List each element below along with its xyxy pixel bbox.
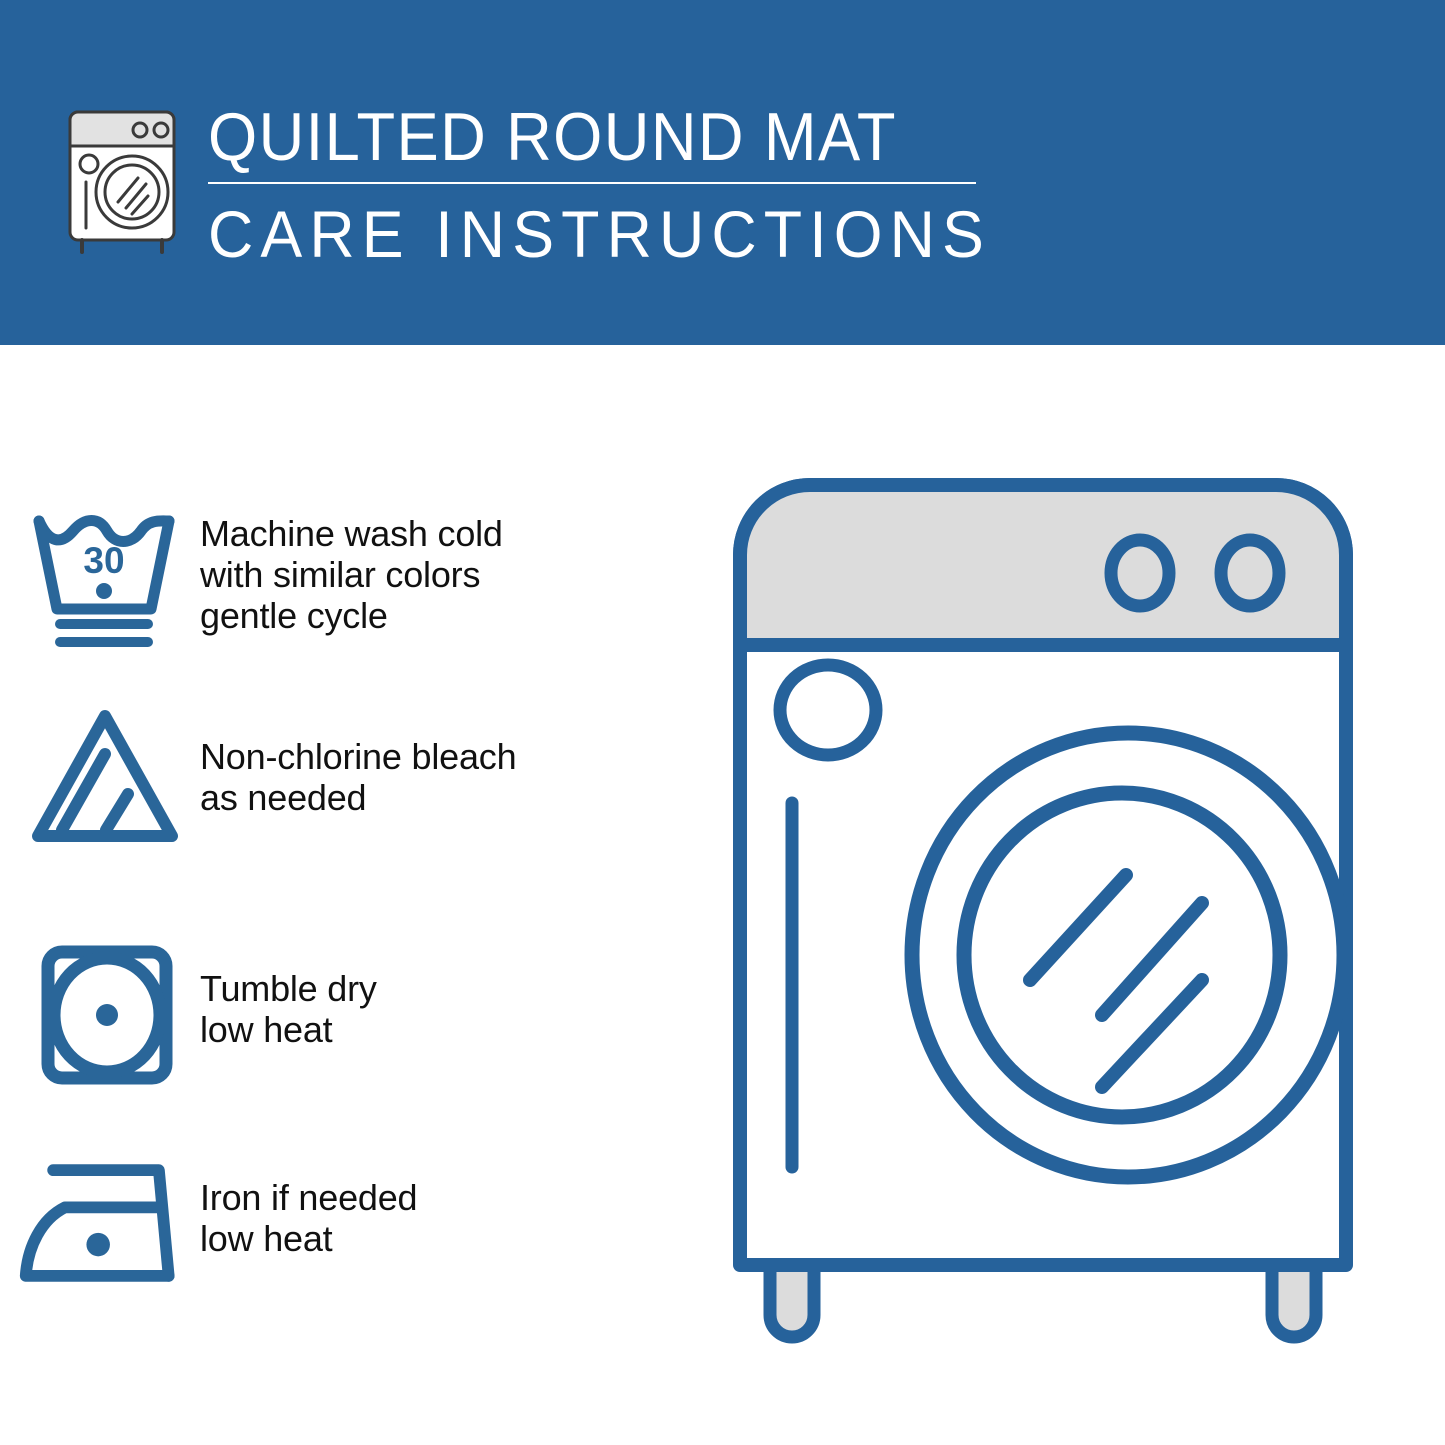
title-divider [208,182,976,184]
iron-icon [0,1155,200,1295]
machine-wash-tub-icon: 30 [0,505,200,655]
washing-machine-icon [62,104,188,256]
care-line: low heat [200,1218,417,1259]
care-line: Non-chlorine bleach [200,736,516,777]
care-line: with similar colors [200,554,503,595]
machine-control-panel [740,485,1346,645]
care-line: as needed [200,777,516,818]
tumble-dry-icon [0,940,200,1090]
page-header: QUILTED ROUND MAT CARE INSTRUCTIONS [0,0,1445,345]
care-item-bleach: Non-chlorine bleach as needed [0,700,690,850]
non-chlorine-bleach-triangle-icon [0,700,200,850]
care-line: Iron if needed [200,1177,417,1218]
care-line: low heat [200,1009,377,1050]
care-line: Tumble dry [200,968,377,1009]
care-instructions-page: QUILTED ROUND MAT CARE INSTRUCTIONS 30 [0,0,1445,1445]
care-label-iron: Iron if needed low heat [200,1155,417,1259]
care-line: Machine wash cold [200,513,503,554]
wash-temperature-label: 30 [83,540,124,581]
washing-machine-illustration [710,455,1420,1365]
care-label-bleach: Non-chlorine bleach as needed [200,700,516,818]
care-item-iron: Iron if needed low heat [0,1155,690,1295]
care-label-tumble-dry: Tumble dry low heat [200,940,377,1050]
page-title: QUILTED ROUND MAT [208,100,943,174]
care-label-machine-wash: Machine wash cold with similar colors ge… [200,505,503,636]
care-item-machine-wash: 30 Machine wash cold with similar colors… [0,505,690,655]
header-text-block: QUILTED ROUND MAT CARE INSTRUCTIONS [208,100,998,270]
care-item-tumble-dry: Tumble dry low heat [0,940,690,1090]
page-subtitle: CARE INSTRUCTIONS [208,198,959,270]
care-line: gentle cycle [200,595,503,636]
